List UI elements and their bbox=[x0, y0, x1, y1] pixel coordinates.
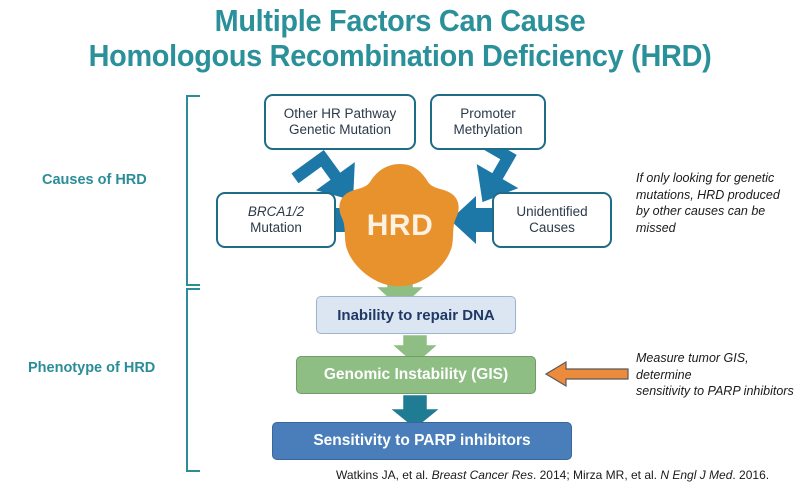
cause-box-other-hr-pathway[interactable]: Other HR Pathway Genetic Mutation bbox=[264, 94, 416, 150]
promoter-line-1: Promoter bbox=[460, 106, 516, 121]
hrd-center-node: HRD bbox=[328, 160, 472, 292]
cause-box-unidentified-text: Unidentified Causes bbox=[516, 204, 587, 237]
cause-box-promoter-methylation[interactable]: Promoter Methylation bbox=[430, 94, 546, 150]
citation-author-1: Watkins JA, et al. bbox=[336, 468, 432, 482]
unidentified-line-1: Unidentified bbox=[516, 204, 587, 219]
unidentified-line-2: Causes bbox=[529, 220, 575, 235]
diagram-canvas: Multiple Factors Can Cause Homologous Re… bbox=[0, 0, 800, 494]
other-hr-line-1: Other HR Pathway bbox=[284, 106, 397, 121]
cause-box-brca-mutation[interactable]: BRCA1/2 Mutation bbox=[216, 192, 336, 248]
annotation-gis-measurement-note: Measure tumor GIS, determine sensitivity… bbox=[636, 350, 800, 400]
phenotype-box-genomic-instability[interactable]: Genomic Instability (GIS) bbox=[296, 356, 536, 394]
citation-journal-2: N Engl J Med bbox=[660, 468, 732, 482]
citation-author-2: . 2014; Mirza MR, et al. bbox=[533, 468, 660, 482]
annotation-genetic-mutations-note: If only looking for genetic mutations, H… bbox=[636, 170, 796, 236]
arrow-gis-measurement bbox=[546, 362, 628, 386]
citation-line: Watkins JA, et al. Breast Cancer Res. 20… bbox=[336, 468, 796, 482]
cause-box-brca-text: BRCA1/2 Mutation bbox=[248, 204, 304, 237]
other-hr-line-2: Genetic Mutation bbox=[289, 122, 391, 137]
phenotype-box-inability-to-repair-dna[interactable]: Inability to repair DNA bbox=[316, 296, 516, 334]
brca-line-2: Mutation bbox=[250, 220, 302, 235]
brca-line-1: BRCA1/2 bbox=[248, 204, 304, 219]
citation-journal-1: Breast Cancer Res bbox=[432, 468, 533, 482]
hrd-blob-shape bbox=[328, 160, 472, 292]
gis-note-line-1: Measure tumor GIS, determine bbox=[636, 351, 749, 382]
phenotype-box-sensitivity-to-parp-inhibitors[interactable]: Sensitivity to PARP inhibitors bbox=[272, 422, 572, 460]
promoter-line-2: Methylation bbox=[453, 122, 522, 137]
cause-box-other-hr-text: Other HR Pathway Genetic Mutation bbox=[284, 106, 397, 139]
cause-box-unidentified-causes[interactable]: Unidentified Causes bbox=[492, 192, 612, 248]
cause-box-promoter-text: Promoter Methylation bbox=[453, 106, 522, 139]
gis-note-line-2: sensitivity to PARP inhibitors bbox=[636, 384, 794, 398]
citation-year-2: . 2016. bbox=[732, 468, 769, 482]
